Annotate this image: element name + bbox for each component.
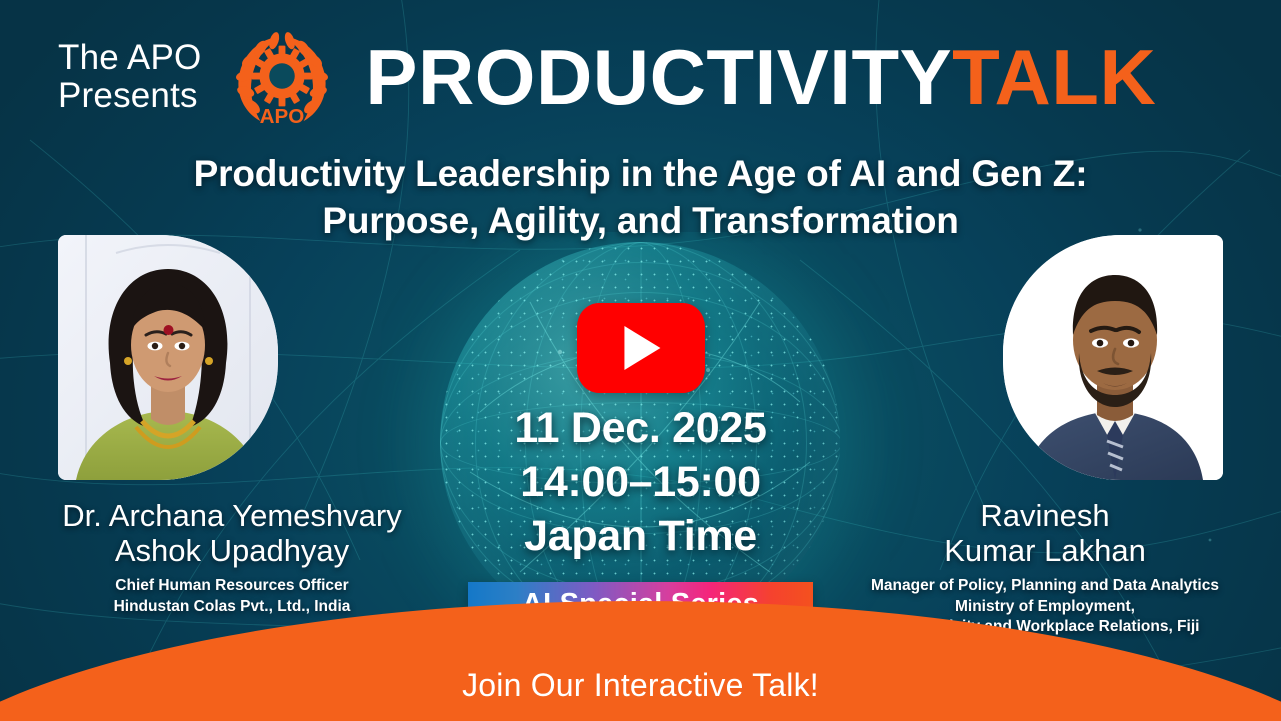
youtube-play-icon[interactable] [577, 303, 705, 393]
brand-productivity: PRODUCTIVITY [365, 33, 952, 121]
event-datetime: 11 Dec. 2025 14:00–15:00 Japan Time [0, 402, 1281, 563]
play-triangle-icon [624, 326, 660, 370]
header: The APO Presents [0, 22, 1281, 132]
brand-title: PRODUCTIVITYTALK [365, 38, 1156, 116]
cta-text: Join Our Interactive Talk! [0, 667, 1281, 704]
brand-talk: TALK [952, 33, 1156, 121]
session-title: Productivity Leadership in the Age of AI… [81, 150, 1201, 245]
webinar-poster: The APO Presents [0, 0, 1281, 721]
apo-logo-text: APO [260, 105, 305, 128]
apo-laurel-gear-logo-icon: APO [223, 25, 341, 129]
presents-label: The APO Presents [58, 39, 201, 115]
speaker-left-role: Chief Human Resources Officer Hindustan … [22, 576, 442, 617]
